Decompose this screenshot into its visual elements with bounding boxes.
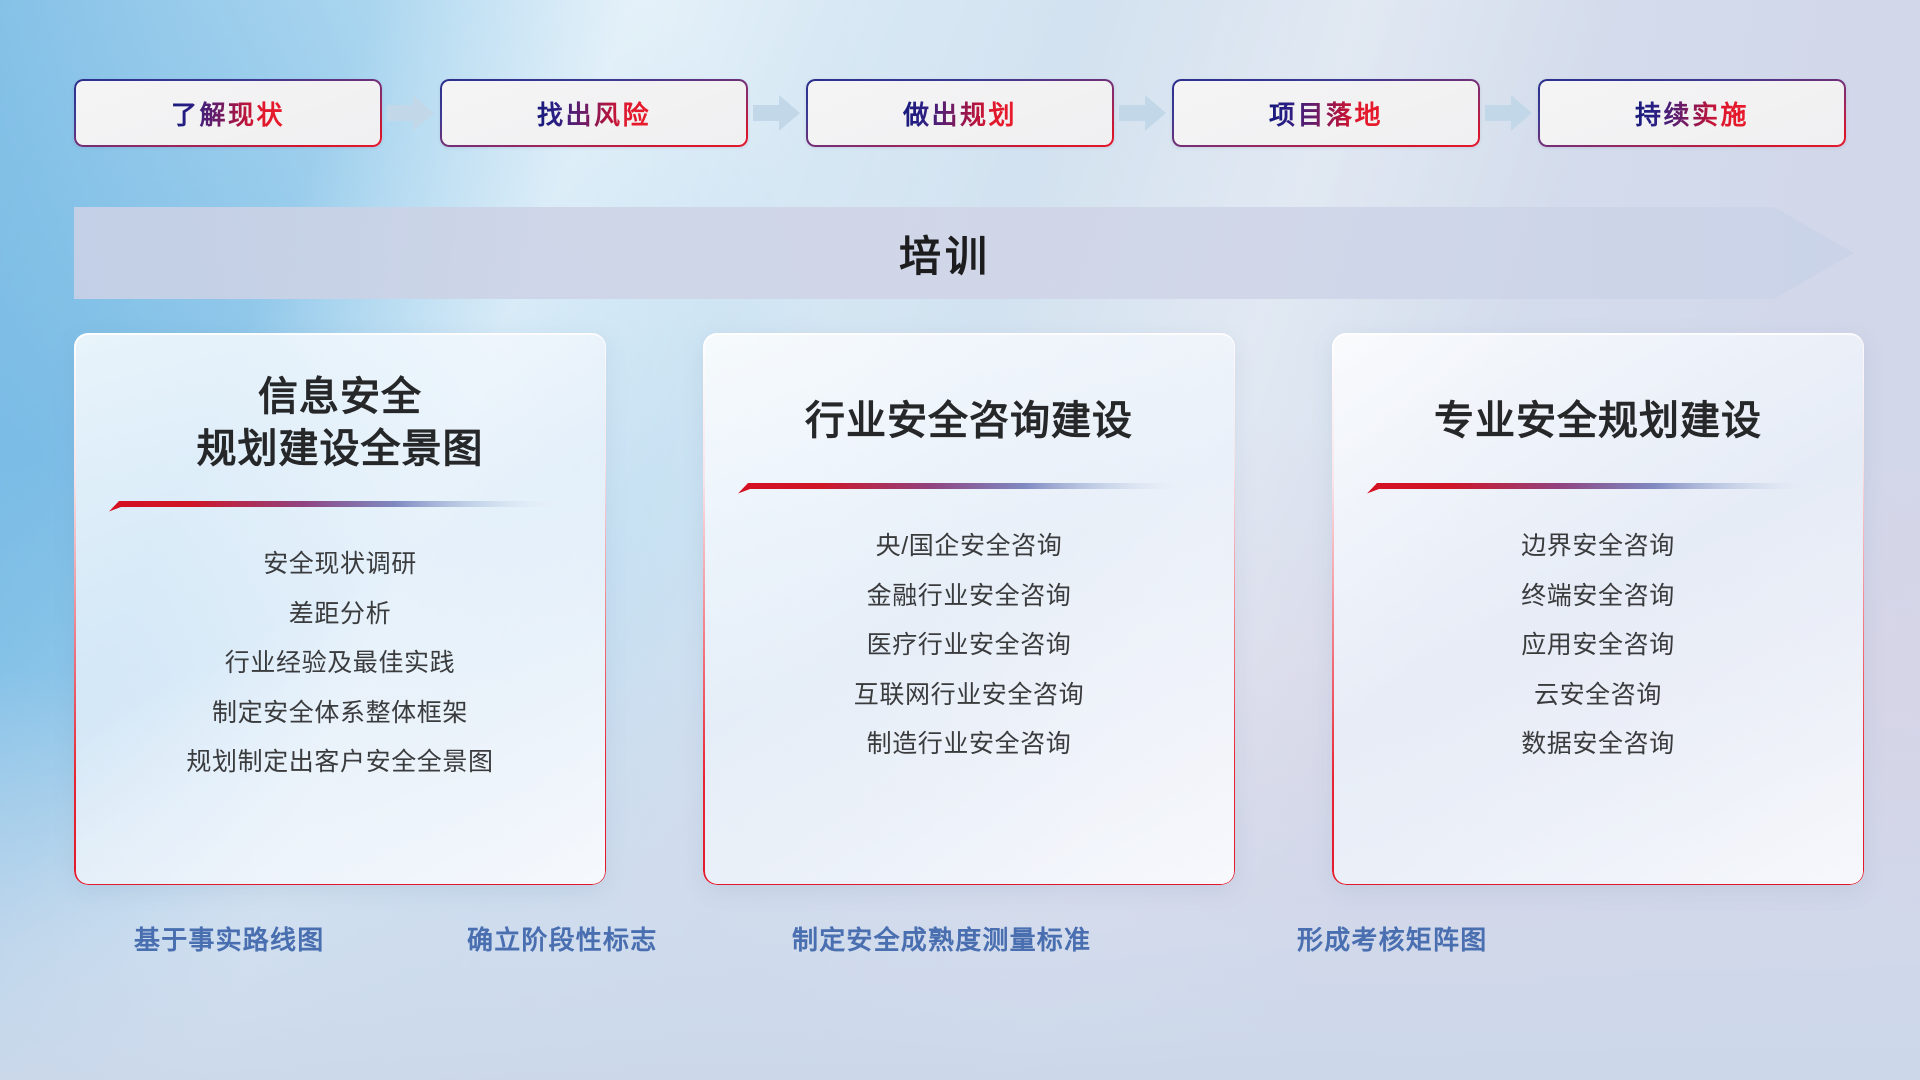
process-step-5[interactable]: 持续实施 <box>1538 79 1846 147</box>
card-item: 制定安全体系整体框架 <box>212 695 468 733</box>
card-item: 央/国企安全咨询 <box>876 528 1063 566</box>
card-divider <box>109 501 571 512</box>
card-title-line: 专业安全规划建设 <box>1358 395 1838 447</box>
card-title-line: 信息安全 <box>100 371 580 423</box>
process-step-label: 项目落地 <box>1269 95 1383 132</box>
footer-label: 基于事实路线图 <box>134 920 324 957</box>
card-item: 应用安全咨询 <box>1521 627 1675 665</box>
card-item: 金融行业安全咨询 <box>867 578 1072 616</box>
card-divider <box>1367 483 1829 494</box>
footer-label: 制定安全成熟度测量标准 <box>792 920 1091 957</box>
process-step-label: 找出风险 <box>537 95 651 132</box>
card-item-list: 边界安全咨询 终端安全咨询 应用安全咨询 云安全咨询 数据安全咨询 <box>1332 528 1864 764</box>
footer-label: 形成考核矩阵图 <box>1297 920 1487 957</box>
card-item-list: 央/国企安全咨询 金融行业安全咨询 医疗行业安全咨询 互联网行业安全咨询 制造行… <box>703 528 1235 764</box>
right-arrow-icon <box>1114 90 1172 136</box>
card-item: 行业经验及最佳实践 <box>225 645 455 683</box>
card-item: 安全现状调研 <box>263 546 417 584</box>
card-divider <box>738 483 1200 494</box>
card-title: 专业安全规划建设 <box>1332 395 1864 447</box>
process-step-label: 持续实施 <box>1635 95 1749 132</box>
process-step-2[interactable]: 找出风险 <box>440 79 748 147</box>
card-item: 差距分析 <box>289 596 391 634</box>
card-item: 终端安全咨询 <box>1521 578 1675 616</box>
card-item: 规划制定出客户安全全景图 <box>186 744 493 782</box>
card-item: 医疗行业安全咨询 <box>867 627 1072 665</box>
right-arrow-icon <box>382 90 440 136</box>
card-item: 制造行业安全咨询 <box>867 726 1072 764</box>
card-title-line: 行业安全咨询建设 <box>729 395 1209 447</box>
card-professional-security-planning[interactable]: 专业安全规划建设 <box>1332 333 1864 885</box>
card-item-list: 安全现状调研 差距分析 行业经验及最佳实践 制定安全体系整体框架 规划制定出客户… <box>74 546 606 782</box>
card-information-security[interactable]: 信息安全 规划建设全景图 <box>74 333 606 885</box>
card-item: 边界安全咨询 <box>1521 528 1675 566</box>
card-row: 信息安全 规划建设全景图 <box>74 333 1864 893</box>
process-step-1[interactable]: 了解现状 <box>74 79 382 147</box>
card-title: 信息安全 规划建设全景图 <box>74 371 606 475</box>
band-title: 培训 <box>74 207 1854 299</box>
card-item: 数据安全咨询 <box>1521 726 1675 764</box>
card-item: 互联网行业安全咨询 <box>854 677 1084 715</box>
training-band: 培训 <box>74 207 1854 299</box>
process-step-row: 了解现状 找出风险 做出规划 项目落地 持续实施 <box>74 78 1846 148</box>
footer-label: 确立阶段性标志 <box>467 920 657 957</box>
process-step-label: 做出规划 <box>903 95 1017 132</box>
process-step-4[interactable]: 项目落地 <box>1172 79 1480 147</box>
right-arrow-icon <box>1480 90 1538 136</box>
process-step-label: 了解现状 <box>171 95 285 132</box>
card-title-line: 规划建设全景图 <box>100 423 580 475</box>
card-title: 行业安全咨询建设 <box>703 395 1235 447</box>
card-item: 云安全咨询 <box>1534 677 1662 715</box>
footer-label-row: 基于事实路线图 确立阶段性标志 制定安全成熟度测量标准 形成考核矩阵图 <box>0 920 1920 980</box>
right-arrow-icon <box>748 90 806 136</box>
card-industry-security-consulting[interactable]: 行业安全咨询建设 <box>703 333 1235 885</box>
process-step-3[interactable]: 做出规划 <box>806 79 1114 147</box>
